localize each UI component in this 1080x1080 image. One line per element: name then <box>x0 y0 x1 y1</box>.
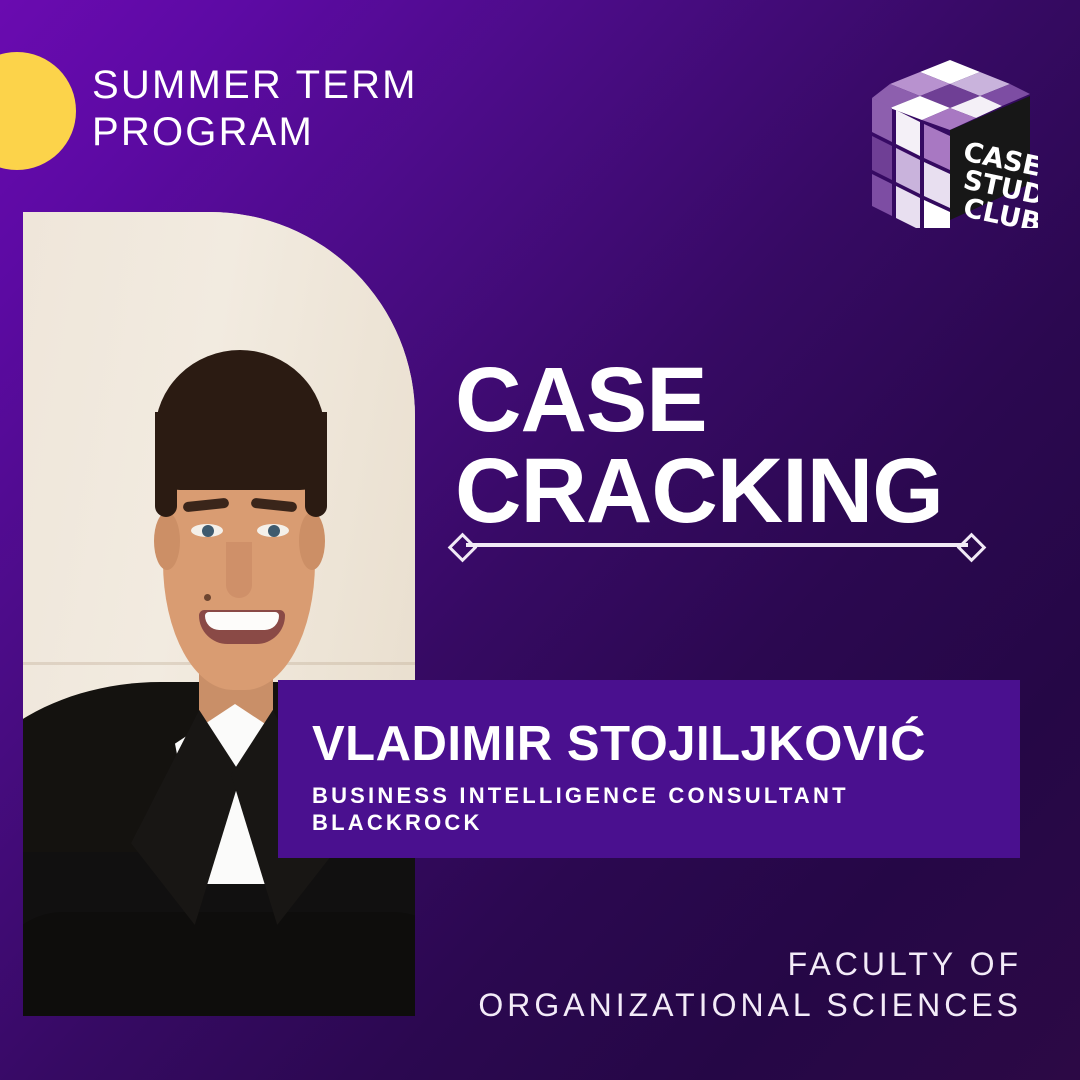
decorative-divider <box>452 534 982 556</box>
diamond-right-icon <box>957 533 987 563</box>
speaker-photo <box>23 212 415 1016</box>
diamond-left-icon <box>448 533 478 563</box>
logo-wordmark: CASE STUDY CLUB <box>961 137 1038 228</box>
faculty-footer: FACULTY OF ORGANIZATIONAL SCIENCES <box>478 944 1022 1026</box>
poster-canvas: SUMMER TERM PROGRAM <box>0 0 1080 1080</box>
event-title: CASE CRACKING <box>455 355 943 537</box>
speaker-name: VLADIMIR STOJILJKOVIĆ <box>312 720 986 769</box>
yellow-circle-accent <box>0 52 76 170</box>
case-study-club-logo: CASE STUDY CLUB <box>862 52 1038 228</box>
divider-line <box>466 543 968 547</box>
speaker-role: BUSINESS INTELLIGENCE CONSULTANT BLACKRO… <box>312 783 986 837</box>
program-header: SUMMER TERM PROGRAM <box>92 62 418 156</box>
rubiks-cube-icon: CASE STUDY CLUB <box>862 52 1038 228</box>
speaker-card: VLADIMIR STOJILJKOVIĆ BUSINESS INTELLIGE… <box>278 680 1020 858</box>
